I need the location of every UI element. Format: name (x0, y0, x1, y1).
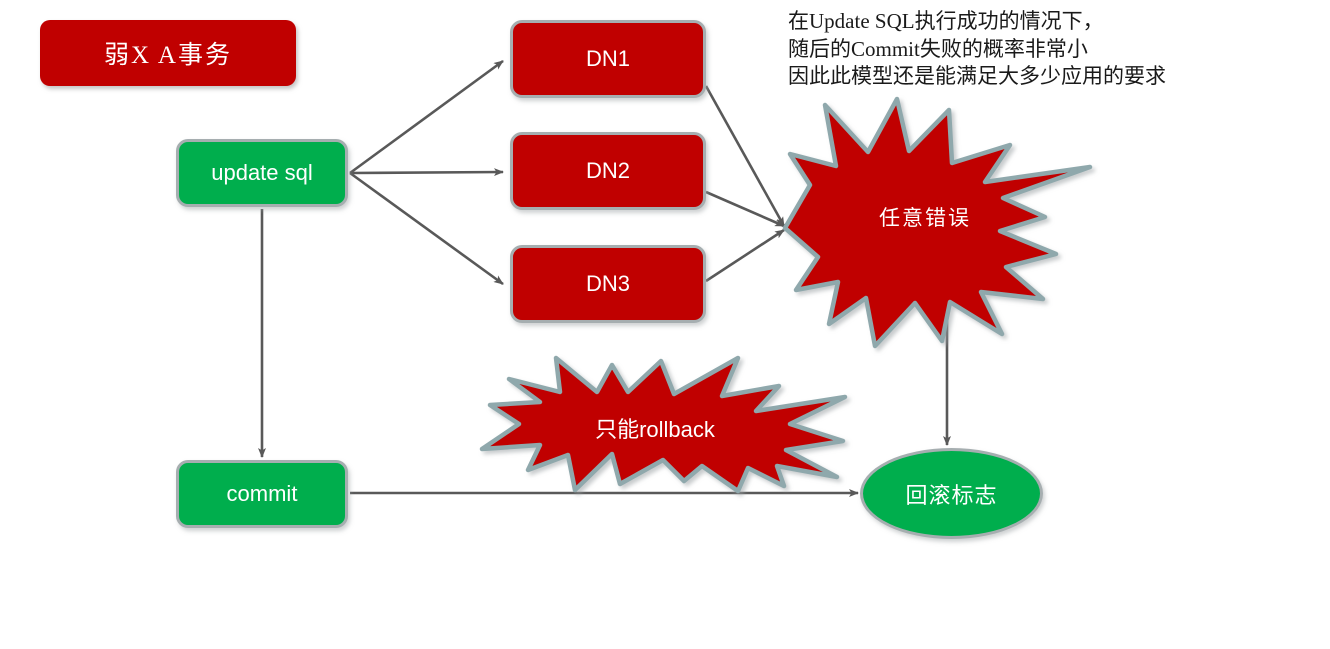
node-commit[interactable]: commit (176, 460, 348, 528)
edge-updatesql-to-dn3 (350, 173, 503, 284)
diagram-canvas: 弱X A事务 update sql DN1 DN2 DN3 commit 回滚标… (0, 0, 1330, 649)
annotation-note: 在Update SQL执行成功的情况下， 随后的Commit失败的概率非常小 因… (788, 8, 1258, 91)
edge-updatesql-to-dn1 (350, 61, 503, 173)
edge-updatesql-to-dn2 (350, 172, 503, 173)
starburst-only-rollback (482, 358, 845, 491)
annotation-line-2: 随后的Commit失败的概率非常小 (788, 36, 1258, 64)
edge-dn3-to-error-burst (706, 230, 784, 281)
annotation-line-3: 因此此模型还是能满足大多少应用的要求 (788, 63, 1258, 91)
starburst-label-arbitrary-error: 任意错误 (830, 202, 1020, 232)
node-dn3[interactable]: DN3 (510, 245, 706, 323)
annotation-line-1: 在Update SQL执行成功的情况下， (788, 8, 1258, 36)
edge-dn2-to-error-burst (706, 192, 784, 226)
edge-dn1-to-error-burst (706, 86, 784, 226)
node-dn1[interactable]: DN1 (510, 20, 706, 98)
node-rollback-flag[interactable]: 回滚标志 (860, 448, 1043, 539)
title-banner: 弱X A事务 (40, 20, 296, 86)
starburst-arbitrary-error (785, 99, 1090, 346)
node-dn2[interactable]: DN2 (510, 132, 706, 210)
starburst-label-only-rollback: 只能rollback (540, 412, 770, 444)
node-update-sql[interactable]: update sql (176, 139, 348, 207)
